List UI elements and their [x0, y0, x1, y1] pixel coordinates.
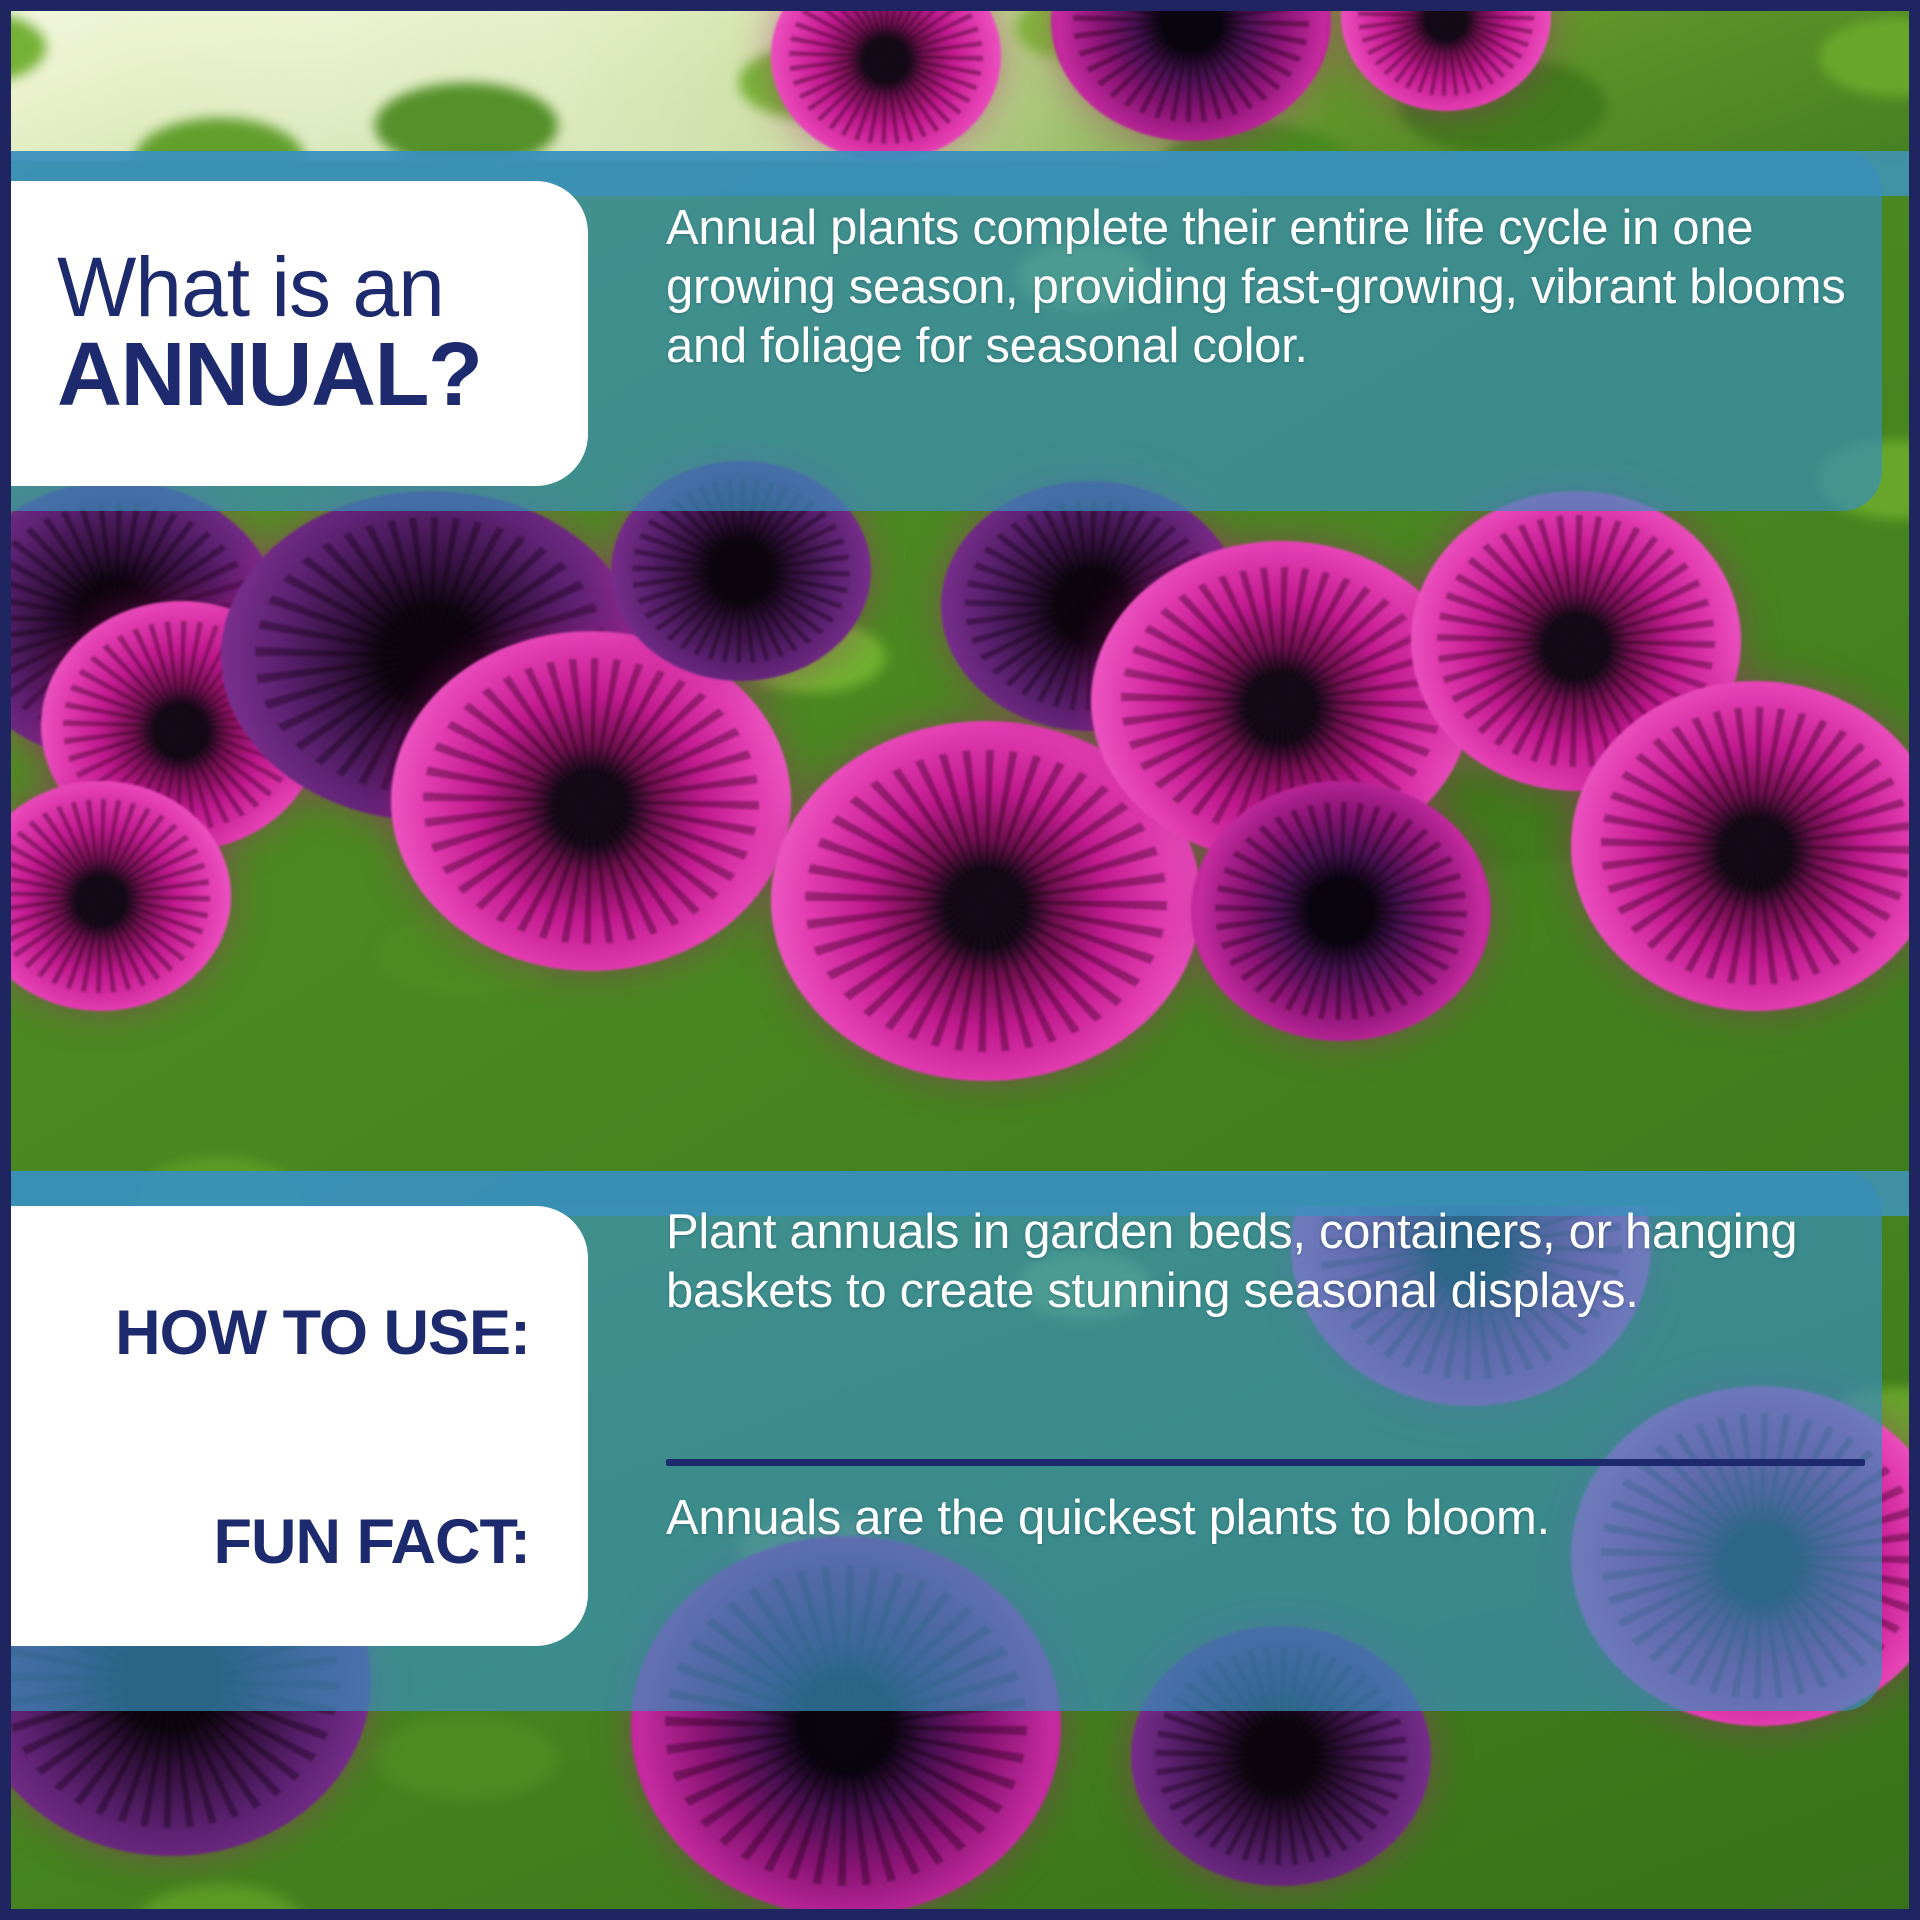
title-line-2: ANNUAL? — [57, 330, 588, 422]
annual-description-text: Annual plants complete their entire life… — [666, 199, 1849, 375]
fun-fact-label: FUN FACT: — [214, 1506, 530, 1578]
background-photo-top — [11, 11, 1909, 161]
section-divider — [666, 1459, 1865, 1466]
infographic-stage: What is an ANNUAL? Annual plants complet… — [11, 11, 1909, 1909]
fun-fact-text: Annuals are the quickest plants to bloom… — [666, 1489, 1839, 1548]
how-to-use-text: Plant annuals in garden beds, containers… — [666, 1203, 1839, 1321]
how-to-use-label: HOW TO USE: — [115, 1297, 530, 1369]
top-title-card: What is an ANNUAL? — [11, 181, 588, 486]
title-line-1: What is an — [57, 245, 588, 331]
bottom-label-card: HOW TO USE: FUN FACT: — [11, 1206, 588, 1646]
section-what-is-an-annual: What is an ANNUAL? Annual plants complet… — [11, 151, 1909, 511]
section-how-to-use-fun-fact: HOW TO USE: FUN FACT: Plant annuals in g… — [11, 1171, 1909, 1711]
navy-frame: What is an ANNUAL? Annual plants complet… — [0, 0, 1920, 1920]
